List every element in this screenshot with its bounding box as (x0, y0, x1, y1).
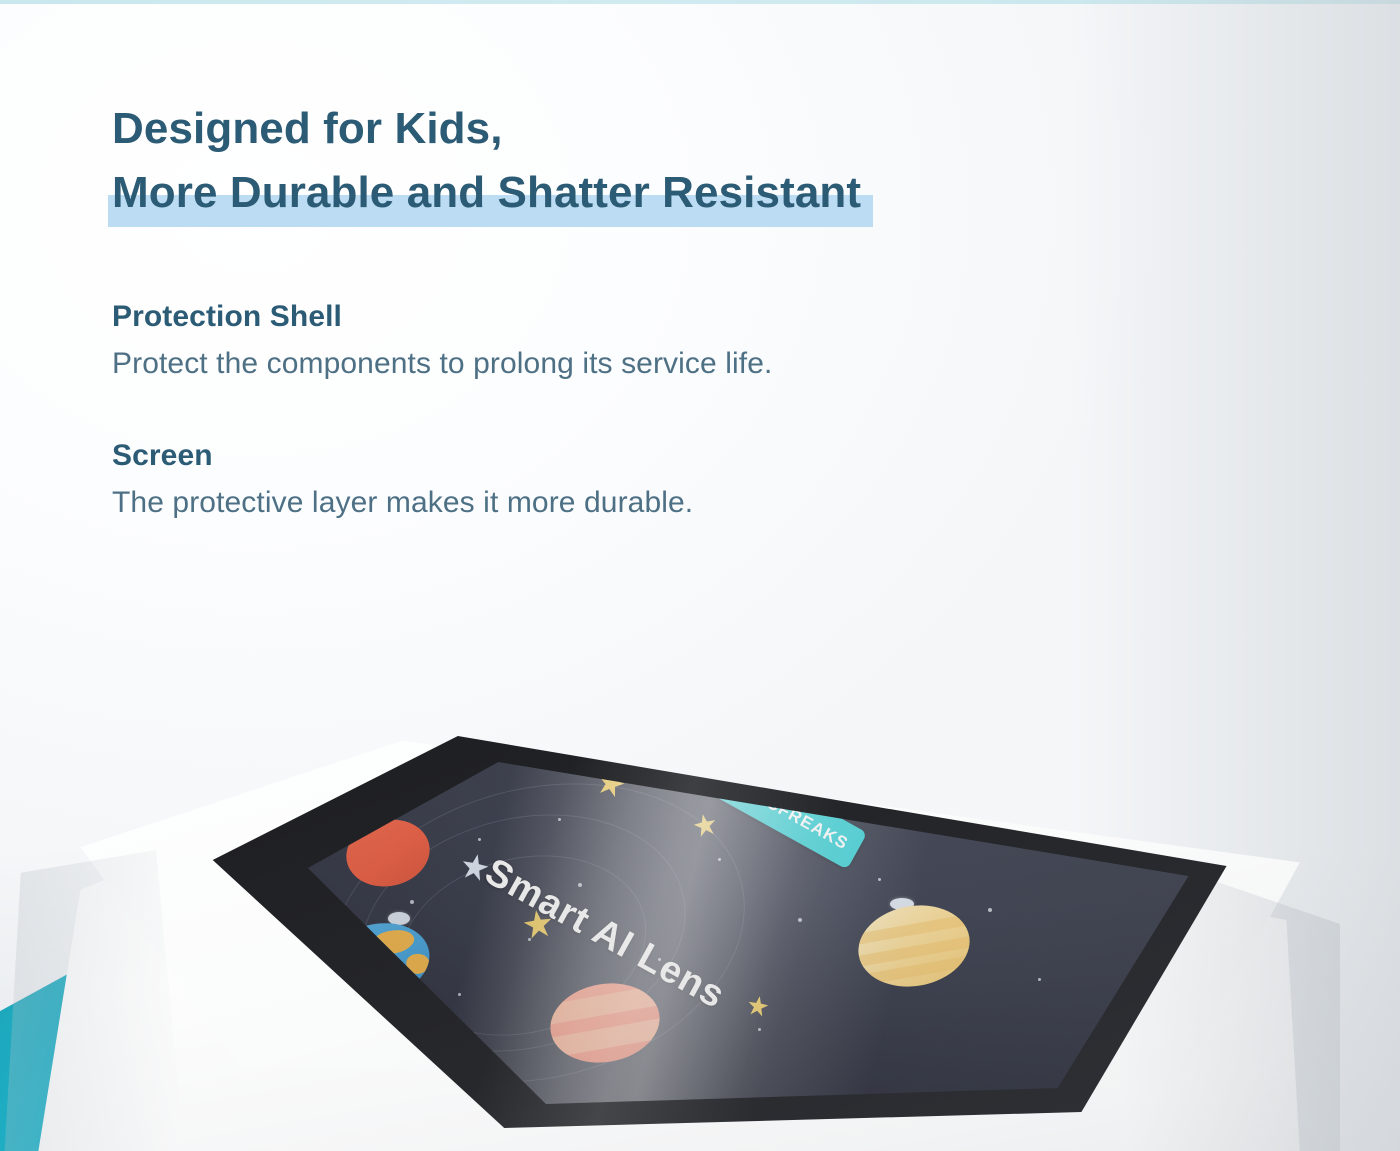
star-dot (478, 838, 481, 841)
feature-description: The protective layer makes it more durab… (112, 481, 1162, 525)
feature-title: Screen (112, 436, 1162, 477)
headline-line-1: Designed for Kids, (112, 98, 1162, 160)
star-dot (988, 908, 992, 912)
marketing-text-block: Designed for Kids, More Durable and Shat… (112, 98, 1162, 525)
headline-line-2-wrapper: More Durable and Shatter Resistant (112, 162, 861, 224)
headline: Designed for Kids, More Durable and Shat… (112, 98, 1162, 225)
star-dot (578, 883, 582, 887)
star-dot (718, 858, 721, 861)
page-background: Designed for Kids, More Durable and Shat… (0, 0, 1400, 1151)
star-dot (558, 818, 561, 821)
feature-screen: Screen The protective layer makes it mor… (112, 436, 1162, 525)
feature-protection-shell: Protection Shell Protect the components … (112, 297, 1162, 386)
star-dot (758, 1028, 761, 1031)
star-dot (878, 878, 881, 881)
star-dot (410, 900, 414, 904)
headline-line-2: More Durable and Shatter Resistant (112, 168, 861, 217)
feature-title: Protection Shell (112, 297, 1162, 338)
star-dot (528, 938, 531, 941)
product-device: Smart AI Lens ELECFREAKS (0, 600, 1400, 1151)
star-dot (798, 918, 802, 922)
feature-description: Protect the components to prolong its se… (112, 342, 1162, 386)
star-dot (1038, 978, 1041, 981)
star-dot (458, 993, 461, 996)
